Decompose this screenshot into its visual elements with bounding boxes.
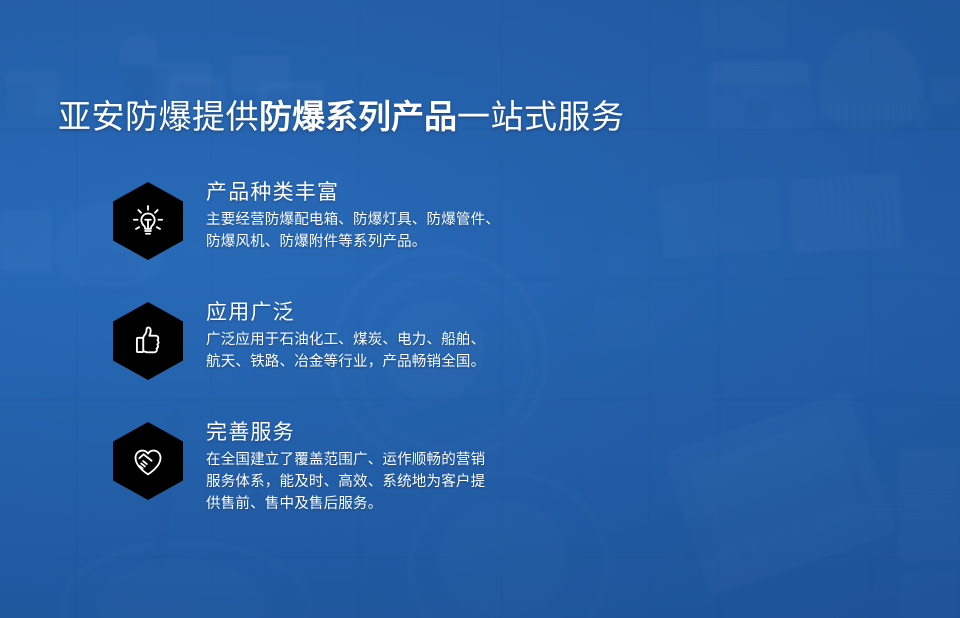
lightbulb-icon [128, 201, 168, 241]
feature-list: 产品种类丰富 主要经营防爆配电箱、防爆灯具、防爆管件、 防爆风机、防爆附件等系列… [113, 178, 583, 522]
feature-item-wide-application: 应用广泛 广泛应用于石油化工、煤炭、电力、船舶、 航天、铁路、冶金等行业，产品畅… [113, 298, 583, 402]
feature-line: 服务体系，能及时、高效、系统地为客户提 [206, 471, 583, 493]
feature-line: 防爆风机、防爆附件等系列产品。 [206, 231, 583, 253]
headline-part-1: 亚安防爆提供 [58, 98, 259, 135]
feature-icon-badge [113, 302, 183, 380]
headline-part-3: 一站式服务 [457, 98, 625, 135]
feature-line: 主要经营防爆配电箱、防爆灯具、防爆管件、 [206, 209, 583, 231]
headline-highlight: 防爆系列产品 [259, 98, 457, 135]
feature-text: 完善服务 在全国建立了覆盖范围广、运作顺畅的营销 服务体系，能及时、高效、系统地… [206, 418, 583, 515]
feature-text: 应用广泛 广泛应用于石油化工、煤炭、电力、船舶、 航天、铁路、冶金等行业，产品畅… [206, 298, 583, 373]
feature-text: 产品种类丰富 主要经营防爆配电箱、防爆灯具、防爆管件、 防爆风机、防爆附件等系列… [206, 178, 583, 253]
promo-banner: 亚安防爆提供防爆系列产品一站式服务 [0, 0, 960, 618]
feature-line: 供售前、售中及售后服务。 [206, 493, 583, 515]
banner-content: 亚安防爆提供防爆系列产品一站式服务 [0, 0, 960, 618]
feature-description: 在全国建立了覆盖范围广、运作顺畅的营销 服务体系，能及时、高效、系统地为客户提 … [206, 449, 583, 515]
headline: 亚安防爆提供防爆系列产品一站式服务 [58, 97, 625, 137]
feature-line: 广泛应用于石油化工、煤炭、电力、船舶、 [206, 329, 583, 351]
feature-description: 主要经营防爆配电箱、防爆灯具、防爆管件、 防爆风机、防爆附件等系列产品。 [206, 209, 583, 253]
handshake-heart-icon [128, 441, 168, 481]
feature-item-complete-service: 完善服务 在全国建立了覆盖范围广、运作顺畅的营销 服务体系，能及时、高效、系统地… [113, 418, 583, 522]
thumbs-up-icon [129, 322, 167, 360]
feature-icon-badge [113, 182, 183, 260]
feature-icon-badge [113, 422, 183, 500]
feature-description: 广泛应用于石油化工、煤炭、电力、船舶、 航天、铁路、冶金等行业，产品畅销全国。 [206, 329, 583, 373]
feature-title: 应用广泛 [206, 300, 583, 326]
feature-title: 完善服务 [206, 420, 583, 446]
feature-line: 航天、铁路、冶金等行业，产品畅销全国。 [206, 351, 583, 373]
feature-line: 在全国建立了覆盖范围广、运作顺畅的营销 [206, 449, 583, 471]
feature-item-product-variety: 产品种类丰富 主要经营防爆配电箱、防爆灯具、防爆管件、 防爆风机、防爆附件等系列… [113, 178, 583, 282]
feature-title: 产品种类丰富 [206, 180, 583, 206]
